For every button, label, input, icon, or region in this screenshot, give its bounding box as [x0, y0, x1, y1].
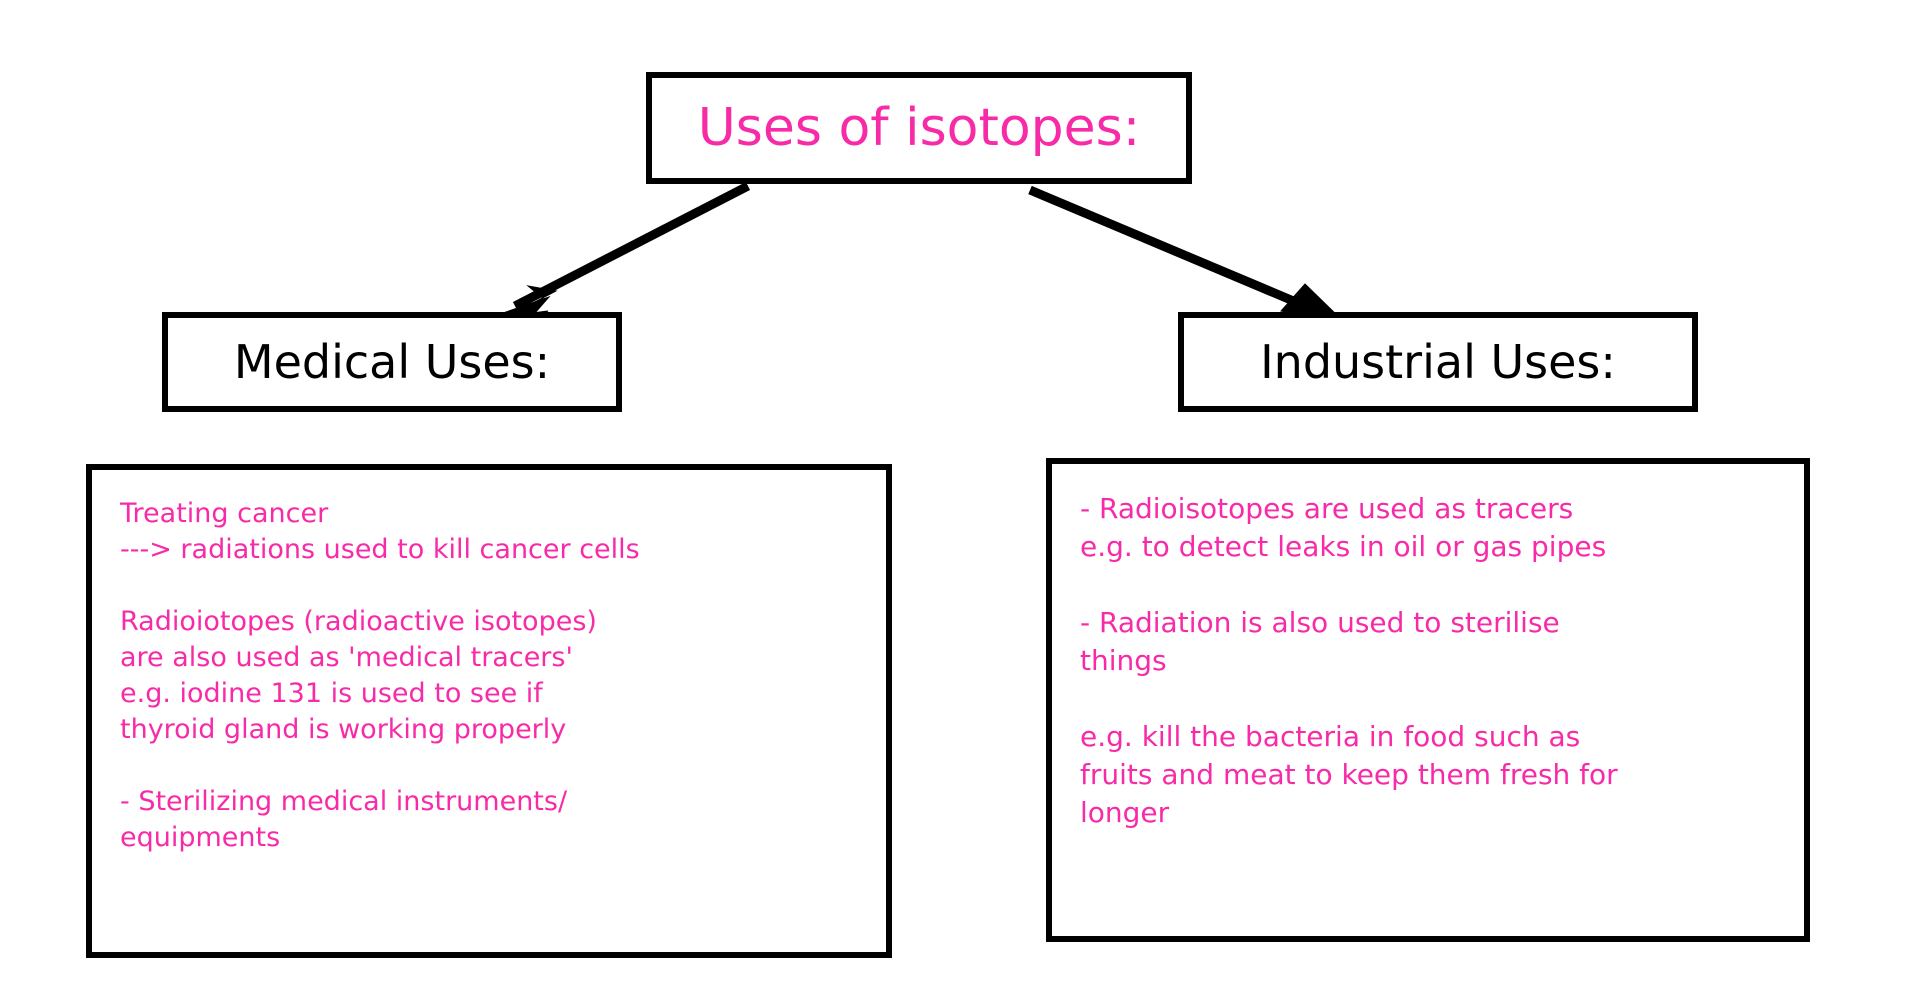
- arrow-root-to-medical: [486, 186, 748, 333]
- diagram-canvas: Uses of isotopes: Medical Uses: Industri…: [0, 0, 1920, 986]
- medical-uses-body-text: Treating cancer ---> radiations used to …: [120, 496, 858, 856]
- node-medical-uses-details: Treating cancer ---> radiations used to …: [86, 464, 892, 958]
- industrial-uses-body-text: - Radioisotopes are used as tracers e.g.…: [1080, 490, 1776, 832]
- node-root: Uses of isotopes:: [646, 72, 1192, 184]
- industrial-uses-label: Industrial Uses:: [1260, 339, 1616, 385]
- medical-uses-label: Medical Uses:: [234, 339, 550, 385]
- node-medical-uses-heading: Medical Uses:: [162, 312, 622, 412]
- node-industrial-uses-details: - Radioisotopes are used as tracers e.g.…: [1046, 458, 1810, 942]
- root-title-label: Uses of isotopes:: [698, 102, 1141, 154]
- node-industrial-uses-heading: Industrial Uses:: [1178, 312, 1698, 412]
